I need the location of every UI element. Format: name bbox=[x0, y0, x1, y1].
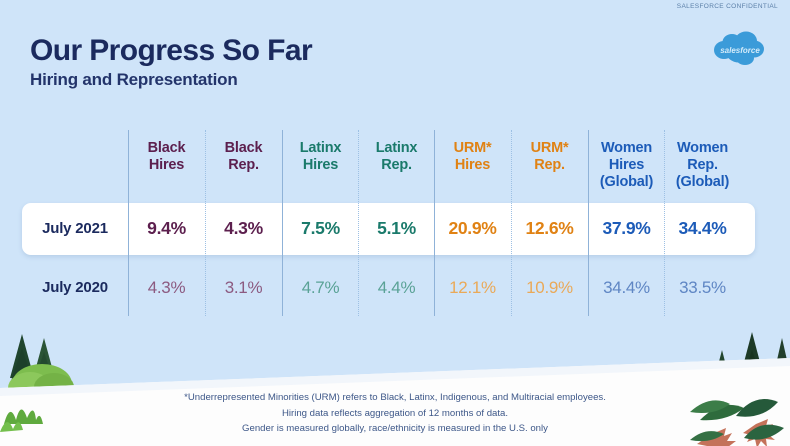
row-label-1: July 2020 bbox=[22, 279, 128, 296]
table-cell-r0-c3: 5.1% bbox=[358, 218, 435, 238]
column-header-6: WomenHires(Global) bbox=[588, 140, 665, 190]
table-cell-r1-c7: 33.5% bbox=[664, 278, 741, 298]
page-subtitle: Hiring and Representation bbox=[30, 70, 238, 90]
column-header-1: BlackRep. bbox=[205, 140, 282, 174]
column-header-line: Women bbox=[664, 140, 741, 157]
footnote-line-1: Hiring data reflects aggregation of 12 m… bbox=[0, 406, 790, 422]
column-header-line: Rep. bbox=[358, 157, 435, 174]
table-cell-r0-c4: 20.9% bbox=[434, 218, 511, 238]
column-header-7: WomenRep.(Global) bbox=[664, 140, 741, 190]
table-cell-r0-c7: 34.4% bbox=[664, 218, 741, 238]
column-header-4: URM*Hires bbox=[434, 140, 511, 174]
column-header-line: Hires bbox=[282, 157, 359, 174]
column-header-line: Latinx bbox=[358, 140, 435, 157]
confidential-label: SALESFORCE CONFIDENTIAL bbox=[677, 3, 778, 10]
footnotes: *Underrepresented Minorities (URM) refer… bbox=[0, 390, 790, 437]
footnote-line-2: Gender is measured globally, race/ethnic… bbox=[0, 421, 790, 437]
column-header-line: Women bbox=[588, 140, 665, 157]
table-cell-r0-c6: 37.9% bbox=[588, 218, 665, 238]
slide-canvas: SALESFORCE CONFIDENTIAL salesforce Our P… bbox=[0, 0, 790, 446]
column-header-line: Rep. bbox=[205, 157, 282, 174]
row-label-0: July 2021 bbox=[22, 220, 128, 237]
table-cell-r1-c3: 4.4% bbox=[358, 278, 435, 298]
table-cell-r0-c5: 12.6% bbox=[511, 218, 588, 238]
table-cell-r0-c2: 7.5% bbox=[282, 218, 359, 238]
salesforce-logo-icon: salesforce bbox=[712, 28, 768, 70]
table-cell-r0-c0: 9.4% bbox=[128, 218, 205, 238]
column-header-line: Hires bbox=[128, 157, 205, 174]
column-header-line: (Global) bbox=[664, 174, 741, 191]
column-header-line: Black bbox=[205, 140, 282, 157]
table-cell-r1-c2: 4.7% bbox=[282, 278, 359, 298]
column-header-line: (Global) bbox=[588, 174, 665, 191]
column-header-0: BlackHires bbox=[128, 140, 205, 174]
column-header-2: LatinxHires bbox=[282, 140, 359, 174]
table-cell-r0-c1: 4.3% bbox=[205, 218, 282, 238]
table-cell-r1-c4: 12.1% bbox=[434, 278, 511, 298]
column-header-5: URM*Rep. bbox=[511, 140, 588, 174]
table-cell-r1-c1: 3.1% bbox=[205, 278, 282, 298]
table-cell-r1-c0: 4.3% bbox=[128, 278, 205, 298]
column-header-line: Black bbox=[128, 140, 205, 157]
column-header-line: Hires bbox=[588, 157, 665, 174]
column-header-line: Latinx bbox=[282, 140, 359, 157]
column-header-3: LatinxRep. bbox=[358, 140, 435, 174]
table-cell-r1-c5: 10.9% bbox=[511, 278, 588, 298]
column-header-line: URM* bbox=[511, 140, 588, 157]
svg-text:salesforce: salesforce bbox=[720, 46, 760, 55]
column-header-line: Rep. bbox=[511, 157, 588, 174]
column-header-line: Hires bbox=[434, 157, 511, 174]
metrics-table: BlackHiresBlackRep.LatinxHiresLatinxRep.… bbox=[0, 126, 790, 318]
table-cell-r1-c6: 34.4% bbox=[588, 278, 665, 298]
column-header-line: Rep. bbox=[664, 157, 741, 174]
table-cells: BlackHiresBlackRep.LatinxHiresLatinxRep.… bbox=[0, 126, 790, 318]
page-title: Our Progress So Far bbox=[30, 34, 312, 68]
column-header-line: URM* bbox=[434, 140, 511, 157]
footnote-line-0: *Underrepresented Minorities (URM) refer… bbox=[0, 390, 790, 406]
